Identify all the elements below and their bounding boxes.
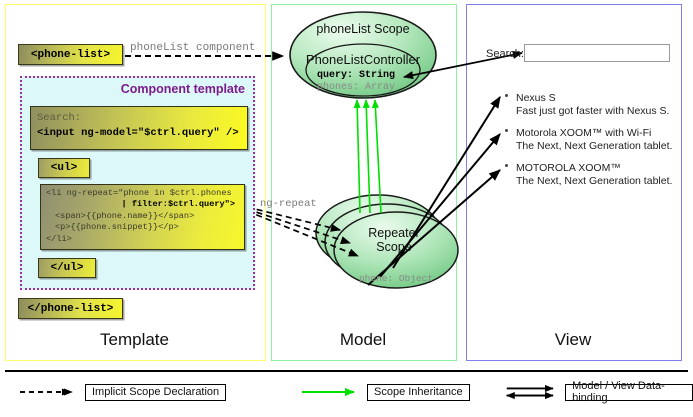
- bullet-icon: [505, 129, 508, 132]
- legend-implicit-label: Implicit Scope Declaration: [85, 384, 226, 401]
- diagram-canvas: <phone-list> phoneList component Compone…: [0, 0, 693, 417]
- legend-green-arrow-icon: [300, 382, 362, 402]
- legend-databinding-label: Model / View Data-binding: [565, 384, 693, 401]
- view-phone-list: Nexus S Fast just got faster with Nexus …: [505, 92, 681, 197]
- label-phonelist-component: phoneList component: [130, 42, 255, 54]
- legend-inheritance-label: Scope Inheritance: [367, 384, 470, 401]
- label-ng-repeat: ng-repeat: [260, 198, 317, 210]
- tag-phone-list-open: <phone-list>: [18, 44, 123, 65]
- repeater-scope-label-line2: Scope: [348, 240, 440, 254]
- legend-data-binding: Model / View Data-binding: [505, 382, 693, 402]
- code-li-line4: <p>{{phone.snippet}}</p>: [46, 222, 239, 233]
- legend-dashed-arrow-icon: [18, 382, 80, 402]
- list-item: Nexus S Fast just got faster with Nexus …: [505, 92, 681, 118]
- code-li-line3: <span>{{phone.name}}</span>: [46, 211, 239, 222]
- bottom-divider: [5, 370, 688, 372]
- list-item-snippet: The Next, Next Generation tablet.: [516, 140, 681, 153]
- repeater-phone-property: phone: Object: [340, 273, 452, 284]
- view-search-input[interactable]: [524, 44, 670, 62]
- tag-phone-list-close: </phone-list>: [18, 298, 123, 319]
- repeater-scope-label-line1: Repeater: [348, 226, 440, 240]
- controller-phones-property: phones: Array: [296, 82, 416, 93]
- code-input-line1: Search:: [37, 111, 241, 126]
- panel-label-template: Template: [5, 330, 264, 350]
- tag-phone-list-open-label: <phone-list>: [31, 49, 110, 61]
- code-li-line5: </li>: [46, 234, 239, 245]
- tag-ul-open: <ul>: [38, 158, 90, 178]
- controller-label: PhoneListController: [290, 52, 436, 67]
- list-item-title: Nexus S: [516, 92, 681, 105]
- legend-bidirectional-arrow-icon: [505, 382, 560, 402]
- bullet-icon: [505, 164, 508, 167]
- code-block-li: <li ng-repeat="phone in $ctrl.phones | f…: [40, 184, 245, 250]
- list-item-title: Motorola XOOM™ with Wi-Fi: [516, 127, 681, 140]
- panel-label-view: View: [466, 330, 680, 350]
- tag-ul-close: </ul>: [38, 258, 96, 278]
- list-item-snippet: The Next, Next Generation tablet.: [516, 175, 681, 188]
- controller-query-property: query: String: [296, 70, 416, 81]
- component-template-title: Component template: [121, 82, 245, 96]
- phonelist-scope-label: phoneList Scope: [296, 22, 430, 36]
- code-block-input: Search: <input ng-model="$ctrl.query" />: [30, 106, 248, 150]
- view-search-label: Search:: [486, 48, 524, 60]
- code-input-line2: <input ng-model="$ctrl.query" />: [37, 126, 241, 141]
- repeater-scope-label: Repeater Scope: [348, 226, 440, 254]
- tag-phone-list-close-label: </phone-list>: [28, 303, 114, 315]
- list-item: Motorola XOOM™ with Wi-Fi The Next, Next…: [505, 127, 681, 153]
- list-item-snippet: Fast just got faster with Nexus S.: [516, 105, 681, 118]
- code-li-line2: | filter:$ctrl.query">: [46, 199, 239, 210]
- list-item-title: MOTOROLA XOOM™: [516, 162, 681, 175]
- code-li-line1: <li ng-repeat="phone in $ctrl.phones: [46, 188, 239, 199]
- list-item: MOTOROLA XOOM™ The Next, Next Generation…: [505, 162, 681, 188]
- bullet-icon: [505, 94, 508, 97]
- panel-label-model: Model: [271, 330, 455, 350]
- legend-scope-inheritance: Scope Inheritance: [300, 382, 470, 402]
- tag-ul-close-label: </ul>: [50, 262, 83, 274]
- tag-ul-open-label: <ul>: [51, 162, 77, 174]
- legend-implicit-scope: Implicit Scope Declaration: [18, 382, 226, 402]
